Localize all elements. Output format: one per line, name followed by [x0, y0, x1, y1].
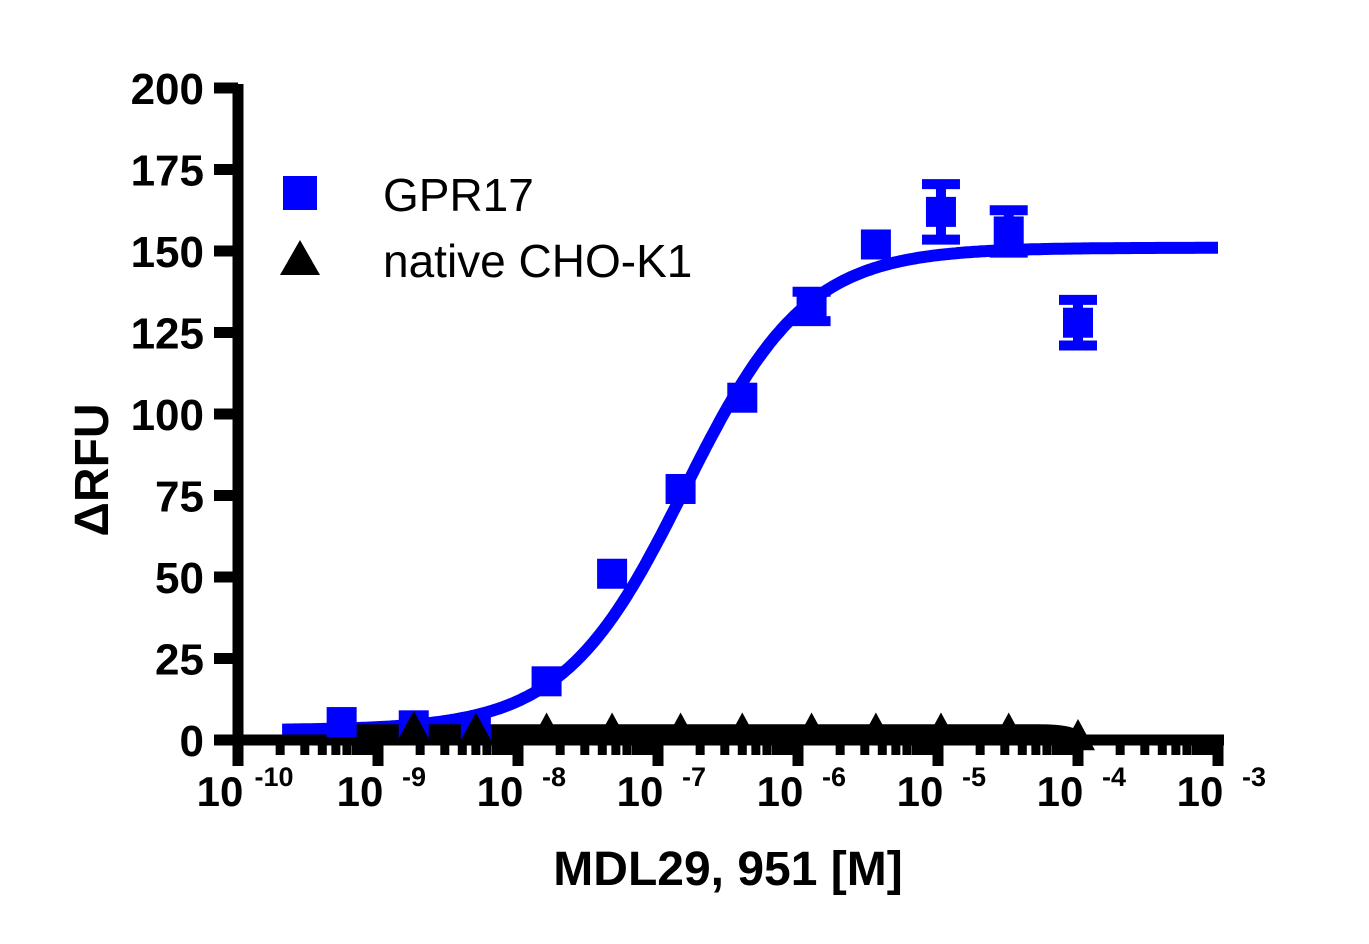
x-axis-tick-base: 10	[617, 768, 664, 815]
legend: GPR17 native CHO-K1	[280, 169, 692, 287]
x-axis-tick-base: 10	[197, 768, 244, 815]
x-axis-tick-label: 10-9	[337, 762, 426, 815]
y-axis-tick-label: 175	[131, 147, 204, 196]
y-axis-tick-label: 25	[155, 636, 204, 685]
x-axis-tick-exponent: -5	[962, 762, 986, 792]
data-point-square	[861, 229, 891, 259]
y-axis-tick-label: 100	[131, 391, 204, 440]
x-axis-tick-base: 10	[1177, 768, 1224, 815]
data-point-square	[926, 197, 956, 227]
x-axis-tick-base: 10	[757, 768, 804, 815]
y-axis-tick-label: 50	[155, 554, 204, 603]
x-axis-title: MDL29, 951 [M]	[553, 843, 902, 896]
legend-marker-triangle-icon	[280, 240, 320, 275]
x-axis-tick-label: 10-8	[477, 762, 566, 815]
y-axis-tick-label: 200	[131, 65, 204, 114]
data-point-square	[797, 291, 827, 321]
x-axis-tick-base: 10	[477, 768, 524, 815]
x-axis-tick-label: 10-5	[897, 762, 986, 815]
x-axis-tick-label: 10-10	[197, 762, 294, 815]
x-axis-tick-exponent: -7	[682, 762, 706, 792]
y-axis-tick-label: 75	[155, 473, 204, 522]
x-axis-tick-exponent: -6	[822, 762, 846, 792]
x-axis-tick-label: 10-3	[1177, 762, 1266, 815]
x-axis-tick-exponent: -9	[402, 762, 426, 792]
x-axis-tick-exponent: -10	[254, 762, 293, 792]
x-axis-tick-label: 10-4	[1037, 762, 1126, 815]
data-point-square	[666, 474, 696, 504]
y-axis-tick-label: 125	[131, 310, 204, 359]
y-axis-tick-label: 0	[180, 717, 204, 766]
x-axis-title-text: MDL29, 951 [M]	[553, 843, 902, 896]
data-point-square	[994, 216, 1024, 246]
x-axis-tick-exponent: -3	[1242, 762, 1266, 792]
data-point-square	[597, 559, 627, 589]
y-axis-title-text: ΔRFU	[66, 403, 119, 536]
y-axis-title: ΔRFU	[66, 403, 119, 536]
x-axis-tick-exponent: -4	[1102, 762, 1126, 792]
x-axis-tick-label: 10-7	[617, 762, 706, 815]
dose-response-plot: 025507510012515017520010-1010-910-810-71…	[0, 0, 1369, 944]
legend-label-gpr17: GPR17	[383, 169, 534, 221]
data-point-square	[532, 666, 562, 696]
x-axis-tick-base: 10	[897, 768, 944, 815]
chart-figure: 025507510012515017520010-1010-910-810-71…	[0, 0, 1369, 944]
x-axis-tick-base: 10	[1037, 768, 1084, 815]
data-point-square	[727, 383, 757, 413]
data-point-square	[327, 707, 357, 737]
y-axis-tick-label: 150	[131, 228, 204, 277]
legend-label-native: native CHO-K1	[383, 235, 692, 287]
x-axis-tick-label: 10-6	[757, 762, 846, 815]
data-point-square	[1063, 308, 1093, 338]
legend-marker-square-icon	[283, 176, 317, 210]
x-axis-tick-base: 10	[337, 768, 384, 815]
x-axis-tick-exponent: -8	[542, 762, 566, 792]
